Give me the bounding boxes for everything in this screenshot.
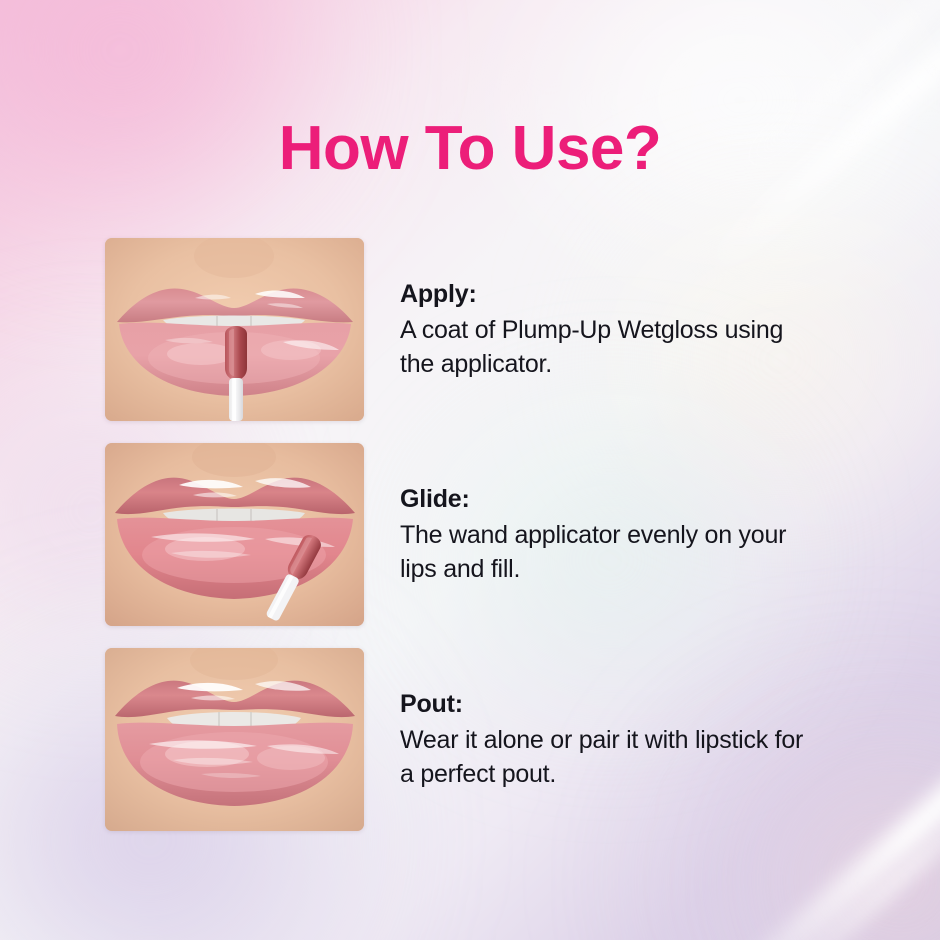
step-description: Wear it alone or pair it with lipstick f… [400, 723, 820, 792]
lips-glide-illustration [105, 443, 364, 626]
step-description: The wand applicator evenly on your lips … [400, 518, 820, 587]
lips-pout-photo [105, 648, 364, 831]
step-item-glide: Glide: The wand applicator evenly on you… [105, 443, 865, 626]
lips-apply-illustration [105, 238, 364, 421]
step-heading: Pout: [400, 688, 865, 720]
how-to-use-poster: How To Use? [0, 0, 940, 940]
step-item-apply: Apply: A coat of Plump-Up Wetgloss using… [105, 238, 865, 421]
lips-pout-illustration [105, 648, 364, 831]
steps-list: Apply: A coat of Plump-Up Wetgloss using… [105, 238, 865, 831]
step-item-pout: Pout: Wear it alone or pair it with lips… [105, 648, 865, 831]
step-description: A coat of Plump-Up Wetgloss using the ap… [400, 313, 820, 382]
page-title: How To Use? [0, 118, 940, 180]
lips-apply-photo [105, 238, 364, 421]
step-text-apply: Apply: A coat of Plump-Up Wetgloss using… [400, 278, 865, 382]
lips-glide-photo [105, 443, 364, 626]
step-text-glide: Glide: The wand applicator evenly on you… [400, 483, 865, 587]
step-heading: Glide: [400, 483, 865, 515]
step-text-pout: Pout: Wear it alone or pair it with lips… [400, 688, 865, 792]
step-heading: Apply: [400, 278, 865, 310]
